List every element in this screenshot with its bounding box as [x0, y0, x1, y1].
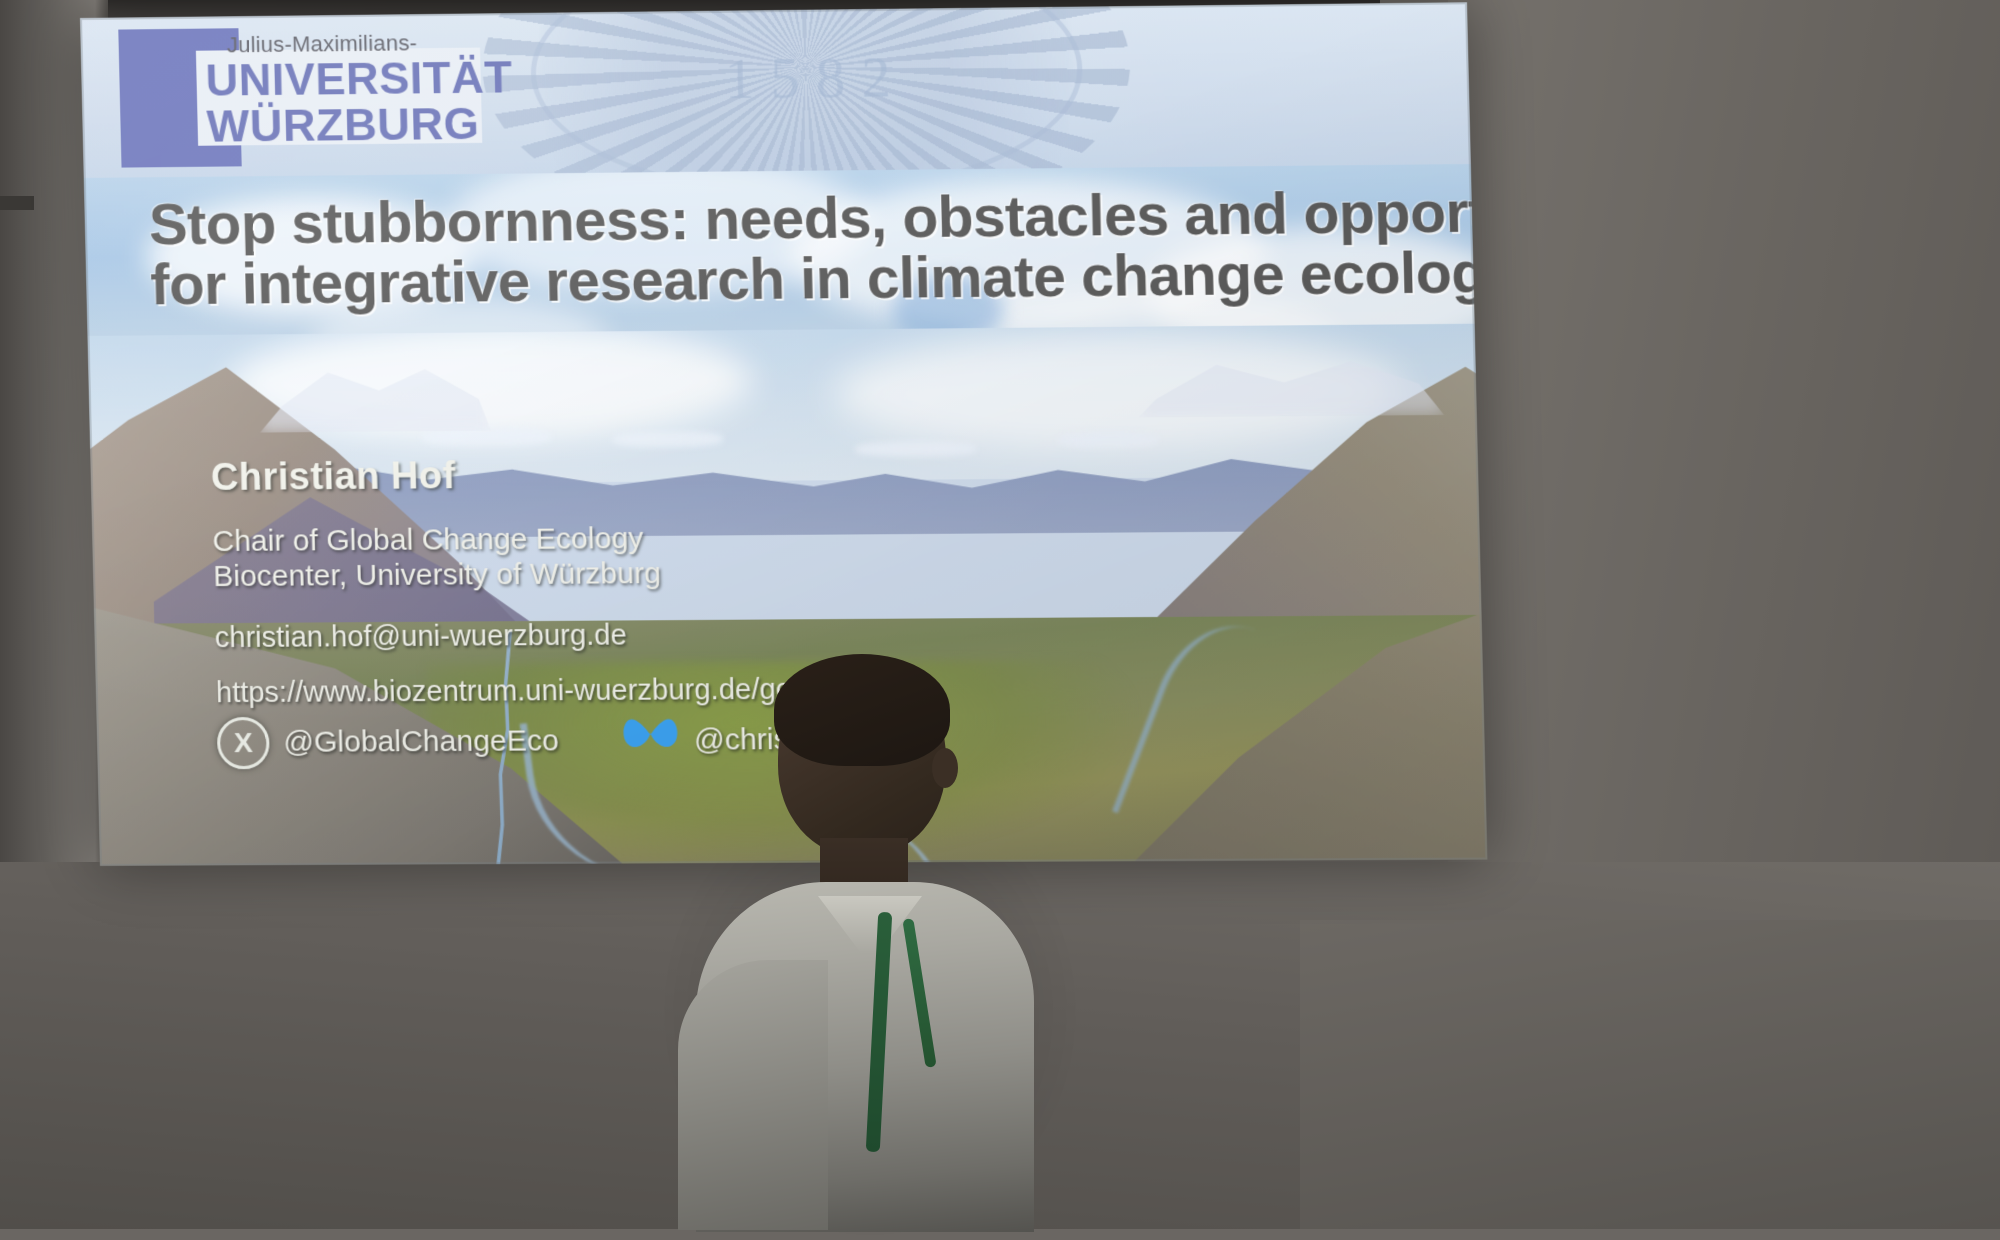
slide-title: Stop stubbornness: needs, obstacles and … [148, 183, 1425, 316]
author-affiliation-2: Biocenter, University of Würzburg [213, 553, 1122, 594]
room-background: 1582 Julius-Maximilians- UNIVERSITÄT WÜR… [0, 0, 2000, 1229]
speaker-shoulder-left [678, 960, 828, 1230]
snow-patch [1057, 431, 1159, 448]
speaker-silhouette [700, 660, 1030, 1229]
author-name: Christian Hof [210, 450, 1119, 500]
bluesky-butterfly-icon[interactable] [621, 718, 681, 765]
x-twitter-icon[interactable]: X [217, 717, 270, 769]
seal-year-text: 1582 [552, 41, 1080, 114]
logo-line-wuerzburg: WÜRZBURG [206, 98, 480, 153]
social-item-x[interactable]: X @GlobalChangeEco [217, 715, 560, 769]
pillar-notch [0, 196, 34, 210]
slide-header-band: 1582 Julius-Maximilians- UNIVERSITÄT WÜR… [80, 2, 1471, 184]
speaker-ear [932, 748, 958, 788]
wall-corner-right [1300, 920, 2000, 1229]
author-email[interactable]: christian.hof@uni-wuerzburg.de [214, 616, 1123, 655]
snow-patch [612, 431, 723, 448]
social-handle-x: @GlobalChangeEco [283, 724, 559, 760]
speaker-hair [774, 654, 950, 766]
university-logo: Julius-Maximilians- UNIVERSITÄT WÜRZBURG [118, 26, 483, 170]
title-line-2: for integrative research in climate chan… [150, 244, 1425, 316]
